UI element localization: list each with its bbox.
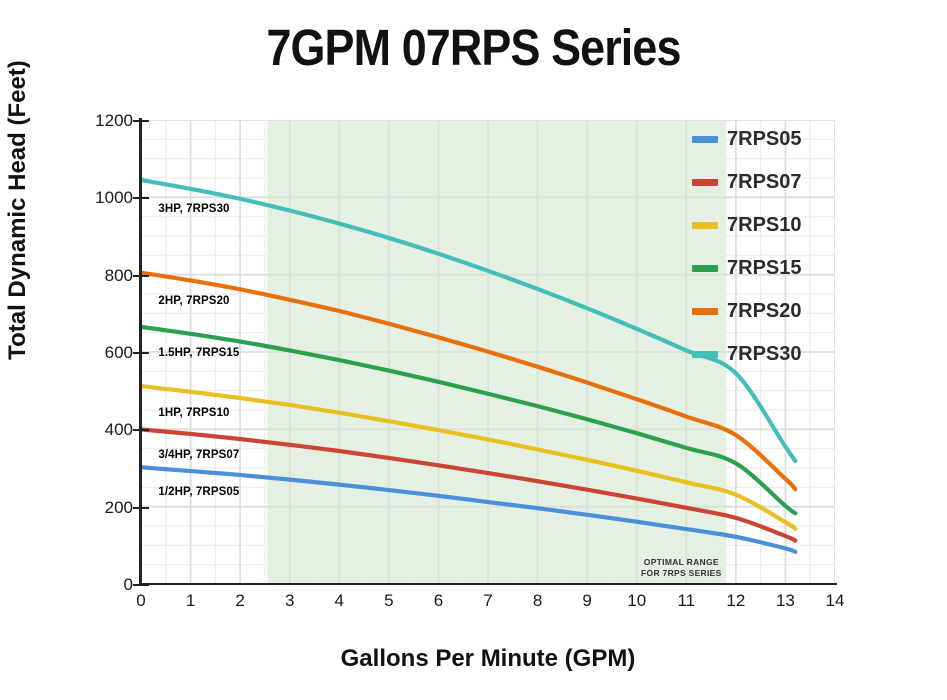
y-tick-mark	[133, 352, 149, 354]
legend-item-7rps20[interactable]: 7RPS20	[692, 290, 852, 333]
x-tick-label: 7	[468, 591, 508, 611]
y-axis-title-wrap: Total Dynamic Head (Feet)	[4, 0, 44, 420]
legend: 7RPS057RPS077RPS107RPS157RPS207RPS30	[692, 118, 852, 376]
legend-label: 7RPS20	[727, 300, 802, 323]
y-tick-label: 400	[73, 420, 133, 440]
x-tick-label: 0	[121, 591, 161, 611]
legend-item-7rps30[interactable]: 7RPS30	[692, 333, 852, 376]
legend-label: 7RPS10	[727, 214, 802, 237]
legend-swatch-icon	[692, 136, 718, 143]
y-tick-label: 800	[73, 266, 133, 286]
curve-label: 3HP, 7RPS30	[158, 203, 229, 215]
x-tick-label: 5	[369, 591, 409, 611]
y-axis-title: Total Dynamic Head (Feet)	[4, 0, 32, 420]
x-axis-title: Gallons Per Minute (GPM)	[141, 645, 835, 673]
x-tick-label: 6	[418, 591, 458, 611]
legend-label: 7RPS15	[727, 257, 802, 280]
page-title: 7GPM 07RPS Series	[57, 18, 890, 77]
legend-item-7rps10[interactable]: 7RPS10	[692, 204, 852, 247]
curve-label: 3/4HP, 7RPS07	[158, 449, 239, 461]
curve-label: 1.5HP, 7RPS15	[158, 347, 239, 359]
legend-item-7rps05[interactable]: 7RPS05	[692, 118, 852, 161]
y-tick-mark	[133, 120, 149, 122]
x-tick-label: 14	[815, 591, 855, 611]
y-tick-label: 1000	[73, 188, 133, 208]
y-tick-label: 200	[73, 498, 133, 518]
x-tick-label: 1	[171, 591, 211, 611]
y-tick-label: 1200	[73, 111, 133, 131]
y-tick-mark	[133, 429, 149, 431]
legend-label: 7RPS30	[727, 343, 802, 366]
legend-swatch-icon	[692, 179, 718, 186]
legend-item-7rps07[interactable]: 7RPS07	[692, 161, 852, 204]
chart-root: 7GPM 07RPS Series Total Dynamic Head (Fe…	[0, 0, 947, 700]
legend-label: 7RPS05	[727, 128, 802, 151]
curve-label: 2HP, 7RPS20	[158, 295, 229, 307]
x-tick-label: 13	[765, 591, 805, 611]
x-tick-label: 8	[518, 591, 558, 611]
optimal-range-annotation: OPTIMAL RANGE FOR 7RPS SERIES	[631, 557, 731, 578]
annotation-line-2: FOR 7RPS SERIES	[631, 568, 731, 579]
x-axis-line	[139, 583, 837, 585]
y-tick-mark	[133, 584, 149, 586]
legend-swatch-icon	[692, 222, 718, 229]
curve-label: 1HP, 7RPS10	[158, 407, 229, 419]
legend-swatch-icon	[692, 351, 718, 358]
x-tick-label: 3	[270, 591, 310, 611]
y-tick-mark	[133, 197, 149, 199]
y-tick-mark	[133, 275, 149, 277]
annotation-line-1: OPTIMAL RANGE	[631, 557, 731, 568]
x-tick-label: 2	[220, 591, 260, 611]
x-tick-label: 4	[319, 591, 359, 611]
y-tick-mark	[133, 507, 149, 509]
x-tick-label: 11	[666, 591, 706, 611]
x-tick-label: 12	[716, 591, 756, 611]
legend-label: 7RPS07	[727, 171, 802, 194]
y-tick-label: 600	[73, 343, 133, 363]
x-tick-label: 9	[567, 591, 607, 611]
legend-swatch-icon	[692, 265, 718, 272]
legend-swatch-icon	[692, 308, 718, 315]
legend-item-7rps15[interactable]: 7RPS15	[692, 247, 852, 290]
x-tick-label: 10	[617, 591, 657, 611]
curve-label: 1/2HP, 7RPS05	[158, 486, 239, 498]
